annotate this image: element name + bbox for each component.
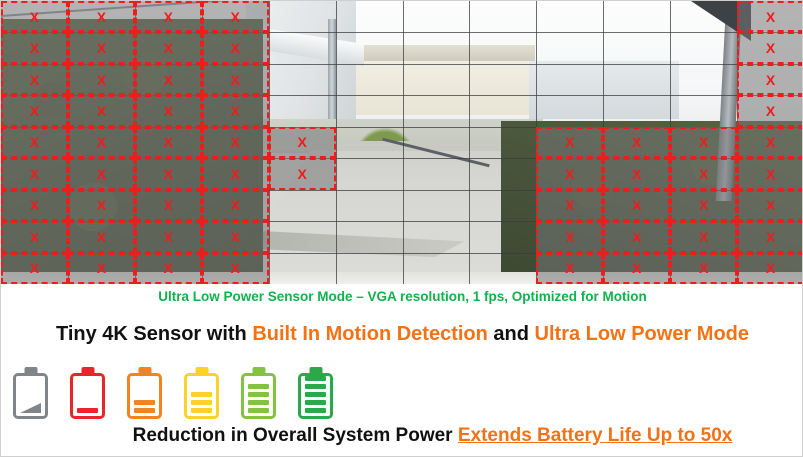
battery-full-icon [298, 367, 333, 419]
right-hedge [501, 121, 803, 284]
battery-charge-bar [305, 392, 326, 397]
battery-charge-bar [134, 400, 155, 405]
headline: Tiny 4K Sensor with Built In Motion Dete… [1, 323, 803, 346]
footer-part-1: Reduction in Overall System Power [133, 425, 458, 446]
footer-accent-battery-life: Extends Battery Life Up to 50x [458, 425, 733, 446]
battery-charge-bar [305, 376, 326, 381]
downspout [328, 19, 336, 131]
battery-body [241, 373, 276, 419]
battery-empty-icon [13, 367, 48, 419]
footer-line: Reduction in Overall System Power Extend… [1, 425, 803, 447]
headline-part-1: Tiny 4K Sensor with [56, 323, 252, 345]
distant-house [529, 61, 679, 119]
battery-charge-bar [305, 384, 326, 389]
battery-charge-bar [248, 408, 269, 413]
battery-empty-wedge [20, 403, 41, 413]
battery-charge-bar [305, 400, 326, 405]
battery-body [298, 373, 333, 419]
headline-accent-motion-detection: Built In Motion Detection [252, 323, 488, 345]
battery-charge-bars [134, 400, 155, 413]
headline-part-2: and [488, 323, 535, 345]
battery-body [13, 373, 48, 419]
battery-charge-bar [191, 408, 212, 413]
battery-high-icon [241, 367, 276, 419]
battery-level-icon-row [13, 363, 373, 419]
battery-charge-bar [305, 408, 326, 413]
battery-charge-bars [191, 392, 212, 413]
battery-charge-bars [248, 384, 269, 413]
battery-charge-bar [191, 400, 212, 405]
battery-critical-icon [70, 367, 105, 419]
battery-charge-bar [248, 400, 269, 405]
battery-body [70, 373, 105, 419]
battery-body [184, 373, 219, 419]
battery-charge-bar [248, 392, 269, 397]
battery-medium-icon [184, 367, 219, 419]
slide-root: XXXXXXXXXXXXXXXXXXXXXXXXXXXXXXXXXXXXXXXX… [0, 0, 803, 457]
battery-charge-bar [191, 392, 212, 397]
camera-preview-panel: XXXXXXXXXXXXXXXXXXXXXXXXXXXXXXXXXXXXXXXX… [1, 1, 803, 284]
foreground-ground [1, 272, 803, 284]
battery-charge-bars [77, 408, 98, 413]
street-scene-photo [1, 1, 803, 284]
battery-body [127, 373, 162, 419]
battery-charge-bars [305, 376, 326, 413]
battery-charge-bar [248, 384, 269, 389]
battery-charge-bar [77, 408, 98, 413]
left-hedge [1, 19, 263, 284]
battery-charge-bar [134, 408, 155, 413]
headline-accent-low-power: Ultra Low Power Mode [535, 323, 749, 345]
battery-low-icon [127, 367, 162, 419]
sensor-mode-caption: Ultra Low Power Sensor Mode – VGA resolu… [1, 289, 803, 304]
